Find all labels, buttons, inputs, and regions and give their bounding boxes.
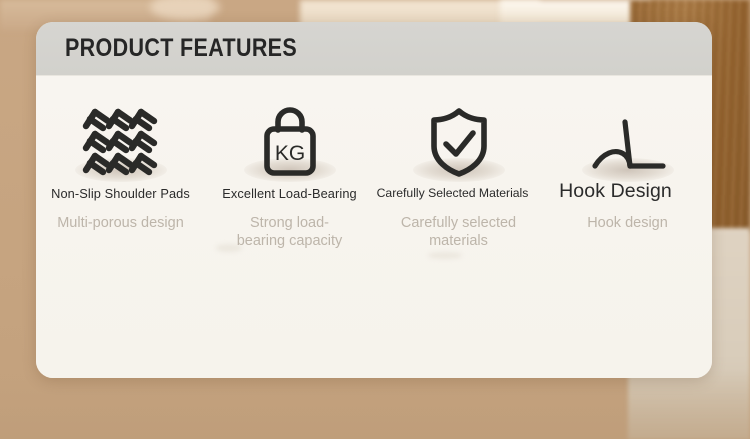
kg-weight-bag-icon: KG xyxy=(257,106,323,178)
feature-sub-label: Strong load- bearing capacity xyxy=(205,214,374,250)
card-header: PRODUCT FEATURES xyxy=(36,22,712,76)
kg-icon-text: KG xyxy=(274,142,304,165)
card-body: Non-Slip Shoulder Pads Multi-porous desi… xyxy=(36,76,712,378)
page-title: PRODUCT FEATURES xyxy=(65,34,297,63)
hook-icon xyxy=(589,116,667,178)
feature-sub-label-line: Carefully selected xyxy=(374,214,543,232)
feature-sub-label: Multi-porous design xyxy=(36,214,205,232)
feature-label: Excellent Load-Bearing xyxy=(205,186,374,201)
feature-sub-label-line: materials xyxy=(374,232,543,250)
feature-item-carefully-selected-materials[interactable]: Carefully Selected Materials Carefully s… xyxy=(374,76,543,378)
feature-list: Non-Slip Shoulder Pads Multi-porous desi… xyxy=(36,76,712,378)
feature-label: Carefully Selected Materials xyxy=(368,186,537,200)
mesh-lattice-icon xyxy=(82,108,160,178)
feature-label: Non-Slip Shoulder Pads xyxy=(36,186,205,201)
feature-sub-label-line: Multi-porous design xyxy=(36,214,205,232)
feature-item-non-slip-shoulder-pads[interactable]: Non-Slip Shoulder Pads Multi-porous desi… xyxy=(36,76,205,378)
feature-icon-wrap xyxy=(399,96,519,178)
feature-sub-label-line: Strong load- xyxy=(205,214,374,232)
feature-sub-label: Hook design xyxy=(543,214,712,232)
feature-sub-label-line: Hook design xyxy=(543,214,712,232)
feature-icon-wrap xyxy=(568,96,688,178)
background-bottom-shade xyxy=(0,369,750,439)
feature-label: Hook Design xyxy=(531,180,700,203)
feature-icon-wrap xyxy=(61,96,181,178)
feature-sub-label: Carefully selected materials xyxy=(374,214,543,250)
feature-icon-wrap: KG xyxy=(230,96,350,178)
feature-item-excellent-load-bearing[interactable]: KG Excellent Load-Bearing Strong load- b… xyxy=(205,76,374,378)
feature-sub-label-line: bearing capacity xyxy=(205,232,374,250)
feature-item-hook-design[interactable]: Hook Design Hook design xyxy=(543,76,712,378)
product-features-card: PRODUCT FEATURES xyxy=(36,22,712,378)
shield-check-icon xyxy=(427,106,491,178)
